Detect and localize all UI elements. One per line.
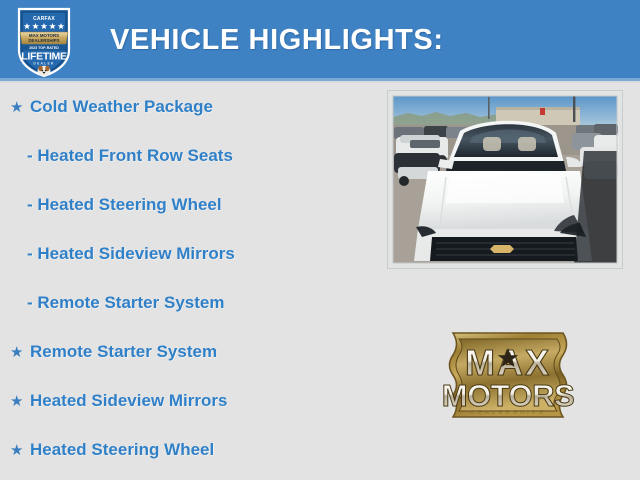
svg-text:2023 TOP-RATED: 2023 TOP-RATED [29,46,59,50]
list-item-label: - Heated Steering Wheel [27,196,222,213]
list-item-label: Heated Sideview Mirrors [30,392,227,409]
list-item-label: Remote Starter System [30,343,217,360]
star-bullet-icon: ★ [10,345,24,360]
star-bullet-icon: ★ [10,443,24,458]
slide-root: CARFAX MAX MOTORS DEALERSHIPS 2023 TOP-R… [0,0,640,480]
star-bullet-icon: ★ [10,100,24,115]
list-item: ★ Cold Weather Package [10,98,213,115]
list-item: ★ Heated Steering Wheel [10,441,214,458]
svg-text:DEALERSHIPS: DEALERSHIPS [28,38,59,43]
header-underline-secondary [0,81,640,83]
star-bullet-icon: ★ [10,394,24,409]
list-item-label: - Heated Front Row Seats [27,147,233,164]
list-item: - Heated Steering Wheel [27,196,222,213]
svg-text:MOTORS: MOTORS [442,378,575,413]
list-item-label: Heated Steering Wheel [30,441,214,458]
page-title: VEHICLE HIGHLIGHTS: [110,24,444,57]
svg-text:DEALERSHIPS: DEALERSHIPS [470,410,546,416]
list-item: - Heated Front Row Seats [27,147,233,164]
list-item-label: Cold Weather Package [30,98,213,115]
list-item: ★ Heated Sideview Mirrors [10,392,227,409]
svg-text:DEALER: DEALER [33,61,54,65]
list-item-label: - Remote Starter System [27,294,224,311]
svg-text:CARFAX: CARFAX [33,16,55,22]
vehicle-front-photo [388,91,622,268]
max-motors-logo: MAX MOTORS DEALERSHIPS [433,323,583,427]
list-item: - Remote Starter System [27,294,224,311]
list-item: ★ Remote Starter System [10,343,217,360]
carfax-top-rated-dealer-badge-icon: CARFAX MAX MOTORS DEALERSHIPS 2023 TOP-R… [16,6,72,78]
list-item: - Heated Sideview Mirrors [27,245,235,262]
list-item-label: - Heated Sideview Mirrors [27,245,235,262]
